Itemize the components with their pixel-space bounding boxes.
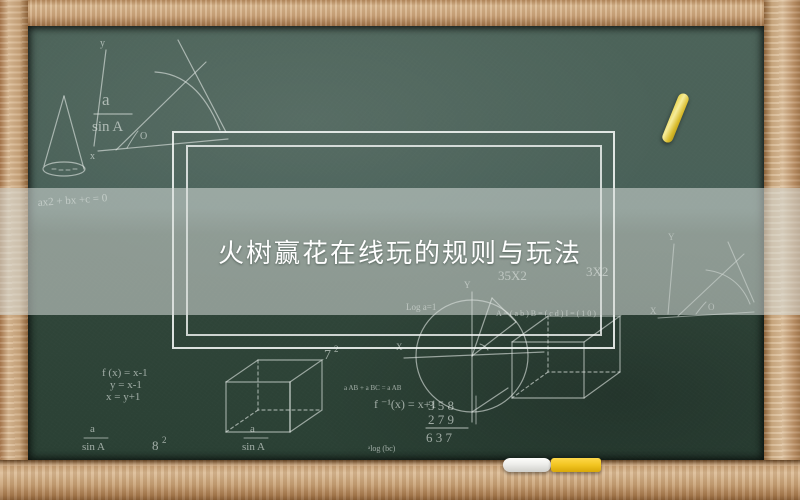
frame-rail-top	[0, 0, 800, 26]
frame-rail-bottom	[0, 460, 800, 500]
chalk-text-eight-sup: 2	[162, 435, 167, 445]
svg-text:y = x-1: y = x-1	[110, 379, 142, 391]
chalk-text-inverse-fn: f ⁻¹(x) = x+1	[374, 397, 436, 411]
chalk-text-a: a	[102, 90, 110, 109]
chalk-long-division: 3 5 8 2 7 9 6 3 7	[426, 396, 476, 445]
chalk-cone-icon	[43, 96, 85, 176]
chalk-text-eight: 8	[152, 438, 159, 453]
svg-text:f (x) = x-1: f (x) = x-1	[102, 367, 148, 379]
chalk-stick-white-ledge	[503, 458, 551, 472]
chalk-text-seven: 7	[324, 348, 331, 363]
chalk-text-log-bc: ᵃlog (bc)	[368, 444, 396, 453]
svg-text:6 3 7: 6 3 7	[426, 430, 453, 445]
chalk-text-abc-note: a AB + a BC = a AB	[344, 384, 402, 392]
svg-text:3 5 8: 3 5 8	[428, 398, 454, 413]
screenshot-root: a sin A ax2 + bx +c = 0 y x O f	[0, 0, 800, 500]
chalk-ledge-lip	[0, 460, 800, 466]
svg-text:2 7 9: 2 7 9	[428, 412, 454, 427]
chalk-stick-yellow-ledge	[551, 458, 601, 472]
chalk-cube-left-icon	[226, 360, 322, 432]
chalk-function-lines: f (x) = x-1 y = x-1 x = y+1	[102, 367, 148, 403]
chalk-text-sinA3: sin A	[242, 441, 265, 453]
chalk-text-sinA2: sin A	[82, 441, 105, 453]
svg-text:O: O	[140, 131, 147, 142]
svg-text:x = y+1: x = y+1	[106, 391, 140, 403]
page-title: 火树赢花在线玩的规则与玩法	[0, 188, 800, 315]
svg-text:y: y	[100, 38, 105, 49]
svg-text:x: x	[90, 151, 95, 162]
chalk-text-sinA: sin A	[92, 119, 123, 135]
chalk-text-a3: a	[250, 423, 255, 435]
chalk-text-a2: a	[90, 423, 95, 435]
